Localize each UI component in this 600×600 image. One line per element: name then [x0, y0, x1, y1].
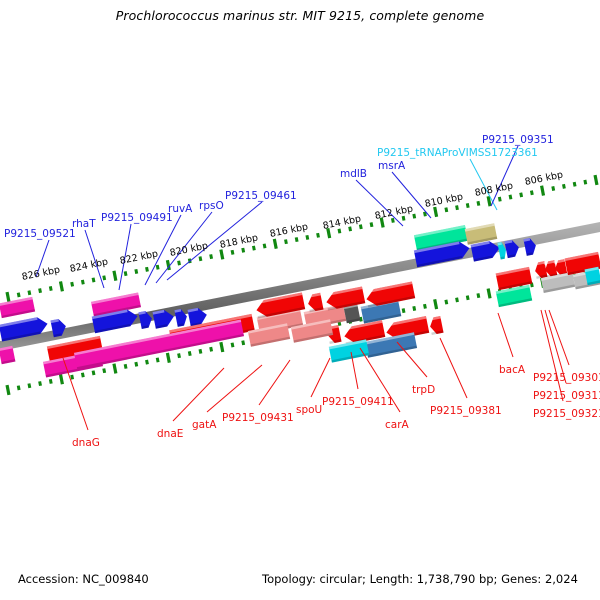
ruler-upper-tick	[219, 249, 224, 259]
gene-label-rpsO[interactable]: rpsO	[199, 200, 224, 212]
gene-label-spoU[interactable]: spoU	[296, 404, 322, 416]
gene-label-P9215_09381[interactable]: P9215_09381	[430, 405, 502, 417]
gene-label-P9215_09411[interactable]: P9215_09411	[322, 396, 394, 408]
ruler-lower-tick	[166, 353, 171, 363]
gene-feature[interactable]	[0, 346, 15, 364]
ruler-upper-tick	[348, 226, 352, 231]
ruler-lower-tick	[112, 363, 117, 373]
leader-line	[259, 360, 290, 405]
gene-label-bacA[interactable]: bacA	[499, 364, 525, 376]
ruler-upper-tick	[17, 292, 21, 297]
ruler-upper-tick	[509, 195, 513, 200]
ruler-lower-tick	[27, 383, 31, 388]
ruler-upper-tick	[156, 265, 160, 270]
gene-label-rhaT[interactable]: rhaT	[72, 218, 96, 230]
ruler-lower-tick	[5, 385, 10, 395]
gene-label-gatA[interactable]: gatA	[192, 419, 216, 431]
ruler-upper-tick	[252, 246, 256, 251]
ruler-upper-tick	[145, 267, 149, 272]
ruler-lower-tick	[177, 353, 181, 358]
ruler-upper-tick	[38, 288, 42, 293]
ruler-upper-tick	[124, 271, 128, 276]
ruler-upper-tick	[209, 254, 213, 259]
ruler-lower-tick	[199, 349, 203, 354]
ruler-upper-tick	[263, 243, 267, 248]
gene-label-msrA[interactable]: msrA	[378, 160, 405, 172]
leader-line	[311, 358, 330, 397]
ruler-upper-tick	[583, 180, 587, 185]
ruler-upper-tick	[530, 190, 534, 195]
ruler-lower-tick	[402, 308, 406, 313]
ruler-lower-tick	[241, 340, 245, 345]
ruler-upper-tick	[455, 205, 459, 210]
gene-label-carA[interactable]: carA	[385, 419, 409, 431]
gene-feature[interactable]	[0, 297, 35, 318]
gene-label-dnaE[interactable]: dnaE	[157, 428, 183, 440]
gene-label-P9215_09461[interactable]: P9215_09461	[225, 190, 297, 202]
gene-label-dnaG[interactable]: dnaG	[72, 437, 100, 449]
ruler-upper-tick	[593, 175, 598, 185]
ruler-lower-tick	[92, 370, 96, 375]
ruler-lower-tick	[444, 300, 448, 305]
ruler-upper-tick	[112, 271, 117, 281]
ruler-lower-tick	[49, 379, 53, 384]
ruler-lower-tick	[219, 342, 224, 352]
gene-label-mdlB[interactable]: mdlB	[340, 168, 367, 180]
genome-map-svg[interactable]	[0, 0, 600, 600]
genome-summary-text: Topology: circular; Length: 1,738,790 bp…	[262, 572, 578, 586]
ruler-lower-tick	[70, 375, 74, 380]
leader-line	[173, 368, 224, 421]
gene-label-P9215_09491[interactable]: P9215_09491	[101, 212, 173, 224]
gene-feature[interactable]	[465, 223, 498, 245]
ruler-upper-tick	[199, 256, 203, 261]
ruler-upper-tick	[316, 233, 320, 238]
ruler-upper-tick	[177, 260, 181, 265]
genome-browser-canvas: Prochlorococcus marinus str. MIT 9215, c…	[0, 0, 600, 600]
ruler-lower-tick	[209, 347, 213, 352]
ruler-upper-tick	[466, 203, 470, 208]
ruler-lower-tick	[156, 357, 160, 362]
gene-label-P9215_09351[interactable]: P9215_09351	[482, 134, 554, 146]
ruler-lower-tick	[412, 306, 416, 311]
gene-label-P9215_09521[interactable]: P9215_09521	[4, 228, 76, 240]
ruler-lower-tick	[455, 297, 459, 302]
ruler-upper-tick	[273, 239, 278, 249]
ruler-lower-tick	[17, 385, 21, 390]
ruler-upper-tick	[540, 185, 545, 195]
leader-line	[207, 365, 262, 412]
ruler-lower-tick	[124, 364, 128, 369]
leader-line	[541, 310, 563, 401]
ruler-upper-tick	[27, 290, 31, 295]
ruler-upper-tick	[59, 281, 64, 291]
ruler-upper-tick	[359, 224, 363, 229]
ruler-upper-tick	[231, 250, 235, 255]
gene-feature[interactable]	[428, 316, 443, 335]
ruler-lower-tick	[188, 351, 192, 356]
ruler-lower-tick	[476, 293, 480, 298]
ruler-lower-tick	[423, 304, 427, 309]
ruler-upper-tick	[295, 237, 299, 242]
ruler-upper-tick	[573, 182, 577, 187]
gene-label-ruvA[interactable]: ruvA	[168, 203, 192, 215]
ruler-upper-tick	[284, 239, 288, 244]
gene-label-P9215_09321[interactable]: P9215_09321	[533, 408, 600, 420]
ruler-lower-tick	[145, 360, 149, 365]
accession-text: Accession: NC_009840	[18, 572, 149, 586]
ruler-lower-tick	[102, 368, 106, 373]
ruler-lower-tick	[231, 342, 235, 347]
ruler-upper-tick	[519, 192, 523, 197]
ruler-upper-tick	[241, 248, 245, 253]
leader-line	[440, 338, 467, 398]
ruler-lower-tick	[134, 362, 138, 367]
ruler-upper-tick	[49, 286, 53, 291]
page-title: Prochlorococcus marinus str. MIT 9215, c…	[0, 8, 600, 23]
ruler-upper-tick	[70, 282, 74, 287]
gene-label-trpD[interactable]: trpD	[412, 384, 435, 396]
ruler-lower-tick	[81, 372, 85, 377]
ruler-upper-tick	[102, 275, 106, 280]
ruler-upper-tick	[81, 280, 85, 285]
ruler-upper-tick	[370, 222, 374, 227]
gene-label-P9215_09311[interactable]: P9215_09311	[533, 390, 600, 402]
ruler-upper-tick	[134, 269, 138, 274]
ruler-upper-tick	[444, 207, 448, 212]
ruler-upper-tick	[562, 184, 566, 189]
ruler-upper-tick	[551, 186, 555, 191]
ruler-upper-tick	[305, 235, 309, 240]
ruler-upper-tick	[338, 229, 342, 234]
gene-feature[interactable]	[306, 293, 323, 312]
ruler-lower-tick	[433, 299, 438, 309]
gene-label-P9215_09431[interactable]: P9215_09431	[222, 412, 294, 424]
ruler-upper-tick	[92, 277, 96, 282]
ruler-upper-tick	[5, 292, 10, 302]
ruler-lower-tick	[487, 288, 492, 298]
ruler-lower-tick	[38, 381, 42, 386]
gene-label-P9215_tRNAProVIMSS1723361[interactable]: P9215_tRNAProVIMSS1723361	[377, 147, 538, 159]
gene-label-P9215_09301[interactable]: P9215_09301	[533, 372, 600, 384]
ruler-lower-tick	[466, 295, 470, 300]
ruler-lower-tick	[59, 374, 64, 384]
ruler-upper-tick	[476, 201, 480, 206]
ruler-upper-tick	[498, 197, 502, 202]
leader-line	[498, 313, 513, 357]
